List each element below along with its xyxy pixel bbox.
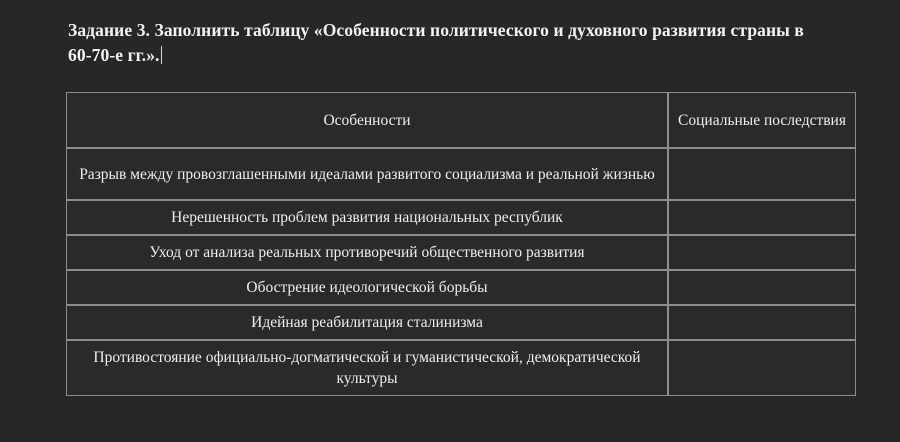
consequence-cell[interactable] bbox=[668, 148, 856, 200]
feature-cell: Идейная реабилитация сталинизма bbox=[66, 305, 668, 340]
table-row: Разрыв между провозглашенными идеалами р… bbox=[66, 148, 856, 200]
task-heading: Задание 3. Заполнить таблицу «Особенност… bbox=[68, 18, 828, 68]
document-page: Задание 3. Заполнить таблицу «Особенност… bbox=[0, 0, 900, 442]
feature-cell: Уход от анализа реальных противоречий об… bbox=[66, 235, 668, 270]
task-heading-text: Задание 3. Заполнить таблицу «Особенност… bbox=[68, 20, 804, 65]
features-table-container: Особенности Социальные последствия Разры… bbox=[66, 92, 856, 396]
feature-cell: Разрыв между провозглашенными идеалами р… bbox=[66, 148, 668, 200]
table-row: Противостояние официально-догматической … bbox=[66, 340, 856, 396]
table-header-row: Особенности Социальные последствия bbox=[66, 92, 856, 148]
consequence-cell[interactable] bbox=[668, 305, 856, 340]
text-caret bbox=[161, 46, 162, 64]
feature-cell: Обострение идеологической борьбы bbox=[66, 270, 668, 305]
features-table: Особенности Социальные последствия Разры… bbox=[66, 92, 856, 396]
table-body: Особенности Социальные последствия Разры… bbox=[66, 92, 856, 396]
consequence-cell[interactable] bbox=[668, 200, 856, 235]
consequence-cell[interactable] bbox=[668, 340, 856, 396]
column-header-consequences: Социальные последствия bbox=[668, 92, 856, 148]
column-header-features: Особенности bbox=[66, 92, 668, 148]
consequence-cell[interactable] bbox=[668, 235, 856, 270]
table-row: Уход от анализа реальных противоречий об… bbox=[66, 235, 856, 270]
table-row: Идейная реабилитация сталинизма bbox=[66, 305, 856, 340]
feature-cell: Нерешенность проблем развития национальн… bbox=[66, 200, 668, 235]
consequence-cell[interactable] bbox=[668, 270, 856, 305]
feature-cell: Противостояние официально-догматической … bbox=[66, 340, 668, 396]
table-row: Обострение идеологической борьбы bbox=[66, 270, 856, 305]
table-row: Нерешенность проблем развития национальн… bbox=[66, 200, 856, 235]
